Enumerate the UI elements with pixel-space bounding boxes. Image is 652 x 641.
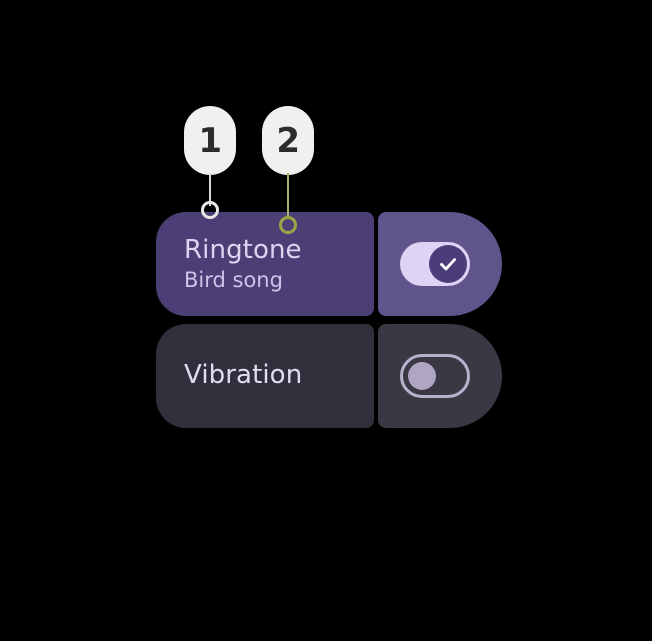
vibration-row-main[interactable]: Vibration <box>156 324 374 428</box>
setting-row-ringtone: Ringtone Bird song <box>156 212 502 316</box>
setting-row-vibration: Vibration <box>156 324 502 428</box>
annotation-badge-2[interactable]: 2 <box>262 106 314 175</box>
ringtone-subtitle: Bird song <box>184 268 374 292</box>
vibration-toggle-cell[interactable] <box>378 324 502 428</box>
ringtone-switch[interactable] <box>400 242 470 286</box>
vibration-switch[interactable] <box>400 354 470 398</box>
vibration-title: Vibration <box>184 361 374 390</box>
ringtone-title: Ringtone <box>184 236 374 265</box>
ringtone-row-main[interactable]: Ringtone Bird song <box>156 212 374 316</box>
annotation-pin-1 <box>201 201 219 219</box>
annotation-badge-1[interactable]: 1 <box>184 106 236 175</box>
settings-list: Ringtone Bird song Vibration <box>156 212 502 436</box>
screen-canvas: Ringtone Bird song Vibration <box>0 0 652 641</box>
annotation-leader-line-2 <box>287 173 289 217</box>
check-icon <box>436 252 460 276</box>
annotation-pin-2 <box>279 216 297 234</box>
vibration-switch-thumb <box>408 362 436 390</box>
ringtone-switch-thumb <box>429 245 467 283</box>
ringtone-toggle-cell[interactable] <box>378 212 502 316</box>
